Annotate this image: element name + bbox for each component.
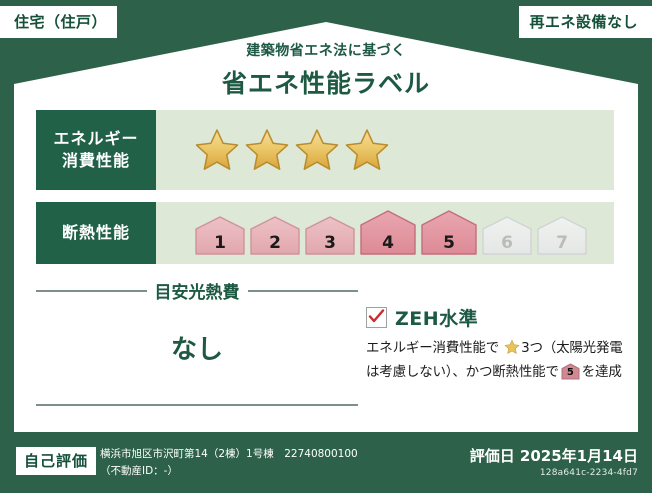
energy-performance-value (156, 110, 614, 190)
badge-building-type: 住宅（住戸） (0, 6, 117, 38)
star-icon (344, 127, 390, 173)
insulation-performance-value: 1234567 (156, 202, 614, 264)
insulation-level-house: 4 (359, 210, 417, 256)
insulation-scale: 1234567 (194, 210, 588, 256)
insulation-label-text: 断熱性能 (62, 222, 130, 244)
insulation-performance-row: 断熱性能 1234567 (36, 202, 614, 264)
self-evaluation-badge: 自己評価 (16, 447, 96, 475)
evaluation-date: 評価日 2025年1月14日 (470, 445, 638, 466)
divider-left (36, 290, 147, 292)
evaluation-date-block: 評価日 2025年1月14日 128a641c-2234-4fd7 (470, 445, 638, 478)
zeh-desc-badge-value: 5 (561, 365, 580, 381)
zeh-title: ZEH水準 (395, 304, 478, 331)
label-card: 建築物省エネ法に基づく 省エネ性能ラベル エネルギー 消費性能 断熱性能 123… (14, 22, 638, 432)
footer: 自己評価 横浜市旭区市沢町第14（2棟）1号棟 22740800100 （不動産… (0, 440, 652, 493)
utility-cost-heading: 目安光熱費 (36, 278, 358, 303)
star-icon (244, 127, 290, 173)
zeh-desc-part2: 3つ（太陽光発電 (521, 340, 623, 356)
house-icon-inline: 5 (561, 363, 580, 380)
zeh-description: エネルギー消費性能で 3つ（太陽光発電 は考慮しない）、かつ断熱性能で 5を達成 (366, 338, 628, 383)
energy-label-line1: エネルギー (53, 128, 138, 150)
star-icon (294, 127, 340, 173)
checkmark-icon (366, 307, 387, 328)
page-title: 省エネ性能ラベル (14, 64, 638, 100)
utility-cost-value: なし (36, 329, 358, 366)
insulation-level-house: 2 (249, 216, 301, 256)
evaluation-id: 128a641c-2234-4fd7 (470, 468, 638, 478)
star-rating (194, 127, 394, 173)
zeh-heading: ZEH水準 (366, 304, 628, 331)
energy-performance-row: エネルギー 消費性能 (36, 110, 614, 190)
energy-label-line2: 消費性能 (62, 150, 130, 172)
zeh-block: ZEH水準 エネルギー消費性能で 3つ（太陽光発電 は考慮しない）、かつ断熱性能… (366, 304, 628, 383)
label-header: 建築物省エネ法に基づく 省エネ性能ラベル (14, 40, 638, 100)
header-subtitle: 建築物省エネ法に基づく (14, 40, 638, 60)
divider-right (248, 290, 359, 292)
insulation-level-house: 6 (481, 216, 533, 256)
utility-cost-heading-text: 目安光熱費 (155, 278, 240, 303)
insulation-level-house: 3 (304, 216, 356, 256)
zeh-desc-part1: エネルギー消費性能で (366, 340, 499, 356)
insulation-level-house: 5 (420, 210, 478, 256)
utility-cost-bottom-divider (36, 404, 358, 406)
zeh-desc-part4: を達成 (582, 364, 622, 380)
badge-renewable-equipment: 再エネ設備なし (519, 6, 652, 38)
star-icon (194, 127, 240, 173)
property-address: 横浜市旭区市沢町第14（2棟）1号棟 22740800100 （不動産ID：-） (100, 446, 358, 480)
utility-cost-block: 目安光熱費 なし (36, 278, 358, 406)
star-icon-inline (500, 343, 520, 359)
insulation-level-house: 1 (194, 216, 246, 256)
insulation-performance-label: 断熱性能 (36, 202, 156, 264)
zeh-desc-part3: は考慮しない）、かつ断熱性能で (366, 364, 559, 380)
energy-performance-label: エネルギー 消費性能 (36, 110, 156, 190)
insulation-level-house: 7 (536, 216, 588, 256)
